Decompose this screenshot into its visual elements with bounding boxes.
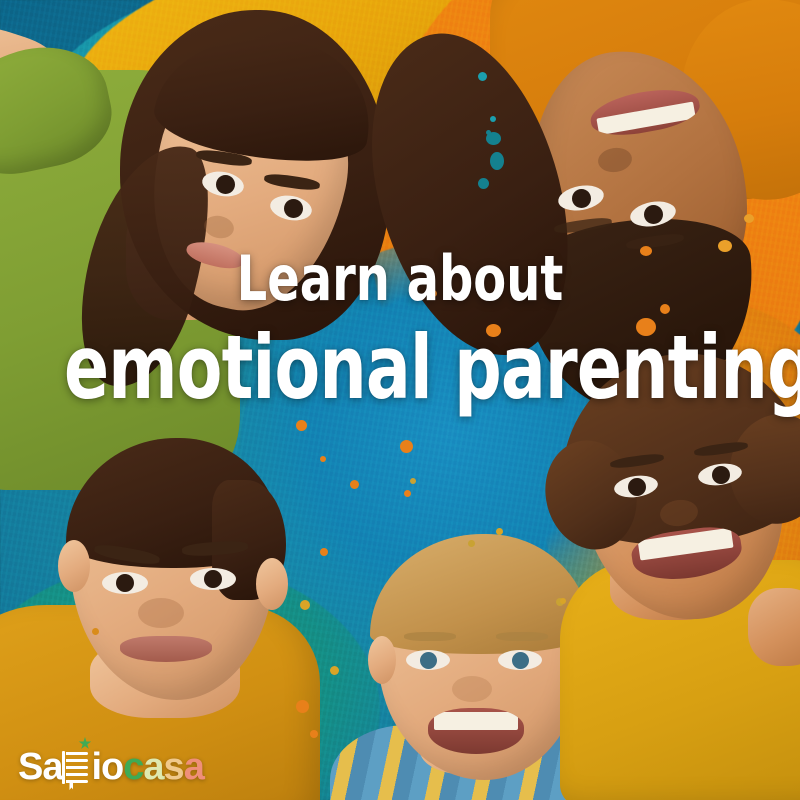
boy-bl-ear-right <box>256 558 288 610</box>
splatter-dot <box>478 72 487 81</box>
book-page <box>66 766 88 769</box>
boy-bc-nose <box>452 676 492 702</box>
splatter-dot <box>400 440 413 453</box>
splatter-dot <box>560 598 566 604</box>
child-br-eye-right-pupil <box>712 466 730 484</box>
boy-bc-ear-left <box>368 636 396 684</box>
boy-bl-eye-left-pupil <box>116 574 134 592</box>
girl-eye-left-pupil <box>216 175 235 194</box>
splatter-dot <box>496 528 503 535</box>
logo-text-a2: a <box>184 748 204 786</box>
splatter-dot <box>310 730 318 738</box>
logo-text-s: s <box>164 748 184 786</box>
splatter-dot <box>320 548 328 556</box>
book-page <box>66 752 88 755</box>
splatter-dot <box>296 700 309 713</box>
boy-bc-teeth <box>434 712 518 730</box>
boy-bl-ear-left <box>58 540 90 592</box>
logo-text-c: c <box>123 748 143 786</box>
promo-graphic-canvas: Learn about emotional parenting Sa io c … <box>0 0 800 800</box>
boy-bc-brow-left <box>404 632 456 641</box>
splatter-dot <box>296 420 307 431</box>
boy-bc-eye-right-pupil <box>512 652 529 669</box>
child-tr-eye-right-pupil <box>644 205 663 224</box>
headline-line-1: Learn about <box>56 248 744 310</box>
logo-text-a1: a <box>143 748 163 786</box>
child-br-fist <box>748 588 800 666</box>
splatter-dot <box>410 478 416 484</box>
book-spine <box>62 751 65 784</box>
child-br-eye-left-pupil <box>628 478 646 496</box>
splatter-dot <box>404 490 411 497</box>
splatter-dot <box>92 628 99 635</box>
splatter-dot <box>468 540 475 547</box>
boy-bc-mouth-laugh <box>428 708 524 754</box>
boy-bl-mouth-frown <box>120 636 212 662</box>
boy-bc-eye-left-pupil <box>420 652 437 669</box>
splatter-dot <box>350 480 359 489</box>
boy-bl-eye-right-pupil <box>204 570 222 588</box>
splatter-dot <box>490 116 496 122</box>
splatter-dot <box>490 152 504 170</box>
logo-text-sa: Sa <box>18 748 62 786</box>
book-icon <box>62 748 90 786</box>
book-page <box>66 773 88 776</box>
sabiocasa-logo[interactable]: Sa io c a s a <box>18 748 204 786</box>
splatter-dot <box>320 456 326 462</box>
splatter-dot <box>478 178 489 189</box>
splatter-dot <box>486 130 491 135</box>
boy-bl-nose <box>138 598 184 628</box>
girl-eye-right-pupil <box>284 199 303 218</box>
splatter-dot <box>744 214 754 223</box>
headline-line-2: emotional parenting <box>64 324 736 412</box>
splatter-dot <box>300 600 310 610</box>
book-page <box>66 759 88 762</box>
logo-text-io: io <box>91 748 123 786</box>
child-bottom-right <box>540 400 800 800</box>
child-tr-eye-left-pupil <box>572 189 591 208</box>
splatter-dot <box>330 666 339 675</box>
